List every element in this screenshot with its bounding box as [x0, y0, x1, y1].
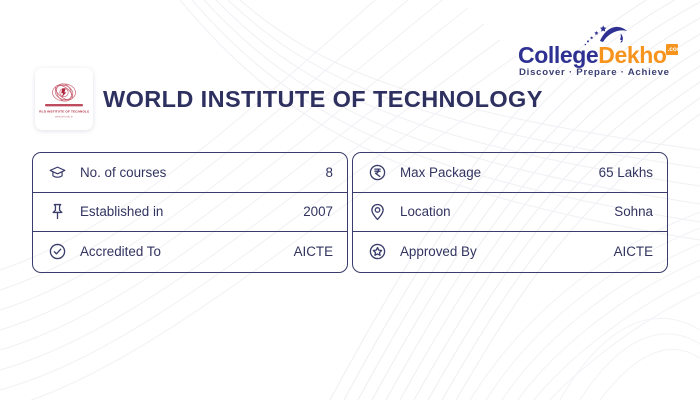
table-row: Approved By AICTE — [353, 232, 667, 272]
row-label: Max Package — [389, 165, 599, 180]
page-title: WORLD INSTITUTE OF TECHNOLOGY — [103, 86, 543, 113]
table-row: Accredited To AICTE — [33, 232, 347, 272]
table-row: No. of courses 8 — [33, 153, 347, 193]
row-value: 8 — [326, 165, 333, 180]
row-label: Accredited To — [69, 244, 294, 259]
brand-name-part1: College — [518, 42, 598, 68]
institute-emblem-icon: WORLD INSTITUTE OF TECHNOLOGY www.wit.ed… — [39, 77, 89, 121]
brand-name-part2: Dekho — [598, 42, 666, 68]
brand-logo[interactable]: CollegeDekho .com Discover · Prepare · A… — [518, 22, 678, 82]
check-circle-icon — [45, 243, 69, 260]
svg-text:WORLD INSTITUTE OF TECHNOLOGY: WORLD INSTITUTE OF TECHNOLOGY — [39, 109, 89, 113]
pushpin-icon — [45, 203, 69, 220]
row-value: AICTE — [294, 244, 333, 259]
row-value: AICTE — [614, 244, 653, 259]
map-pin-icon — [365, 203, 389, 221]
row-value: 65 Lakhs — [599, 165, 653, 180]
row-label: Approved By — [389, 244, 614, 259]
row-label: Location — [389, 204, 614, 219]
rupee-circle-icon — [365, 164, 389, 181]
info-table-right-column: Max Package 65 Lakhs Location Sohna — [352, 152, 668, 273]
brand-domain-badge: .com — [666, 44, 678, 55]
row-label: Established in — [69, 204, 303, 219]
college-info-card: WORLD INSTITUTE OF TECHNOLOGY www.wit.ed… — [0, 0, 700, 400]
brand-tagline: Discover · Prepare · Achieve — [519, 67, 670, 78]
table-row: Location Sohna — [353, 193, 667, 233]
star-badge-icon — [365, 243, 389, 260]
row-value: Sohna — [614, 204, 653, 219]
svg-text:www.wit.edu.in: www.wit.edu.in — [55, 115, 73, 118]
info-table: No. of courses 8 Established in 2007 — [32, 152, 668, 273]
table-row: Established in 2007 — [33, 193, 347, 233]
table-row: Max Package 65 Lakhs — [353, 153, 667, 193]
header: WORLD INSTITUTE OF TECHNOLOGY www.wit.ed… — [0, 0, 700, 150]
row-value: 2007 — [303, 204, 333, 219]
info-table-left-column: No. of courses 8 Established in 2007 — [32, 152, 348, 273]
brand-wordmark: CollegeDekho — [518, 42, 667, 69]
institute-logo-card: WORLD INSTITUTE OF TECHNOLOGY www.wit.ed… — [35, 68, 93, 130]
graduation-cap-icon — [45, 165, 69, 180]
row-label: No. of courses — [69, 165, 326, 180]
